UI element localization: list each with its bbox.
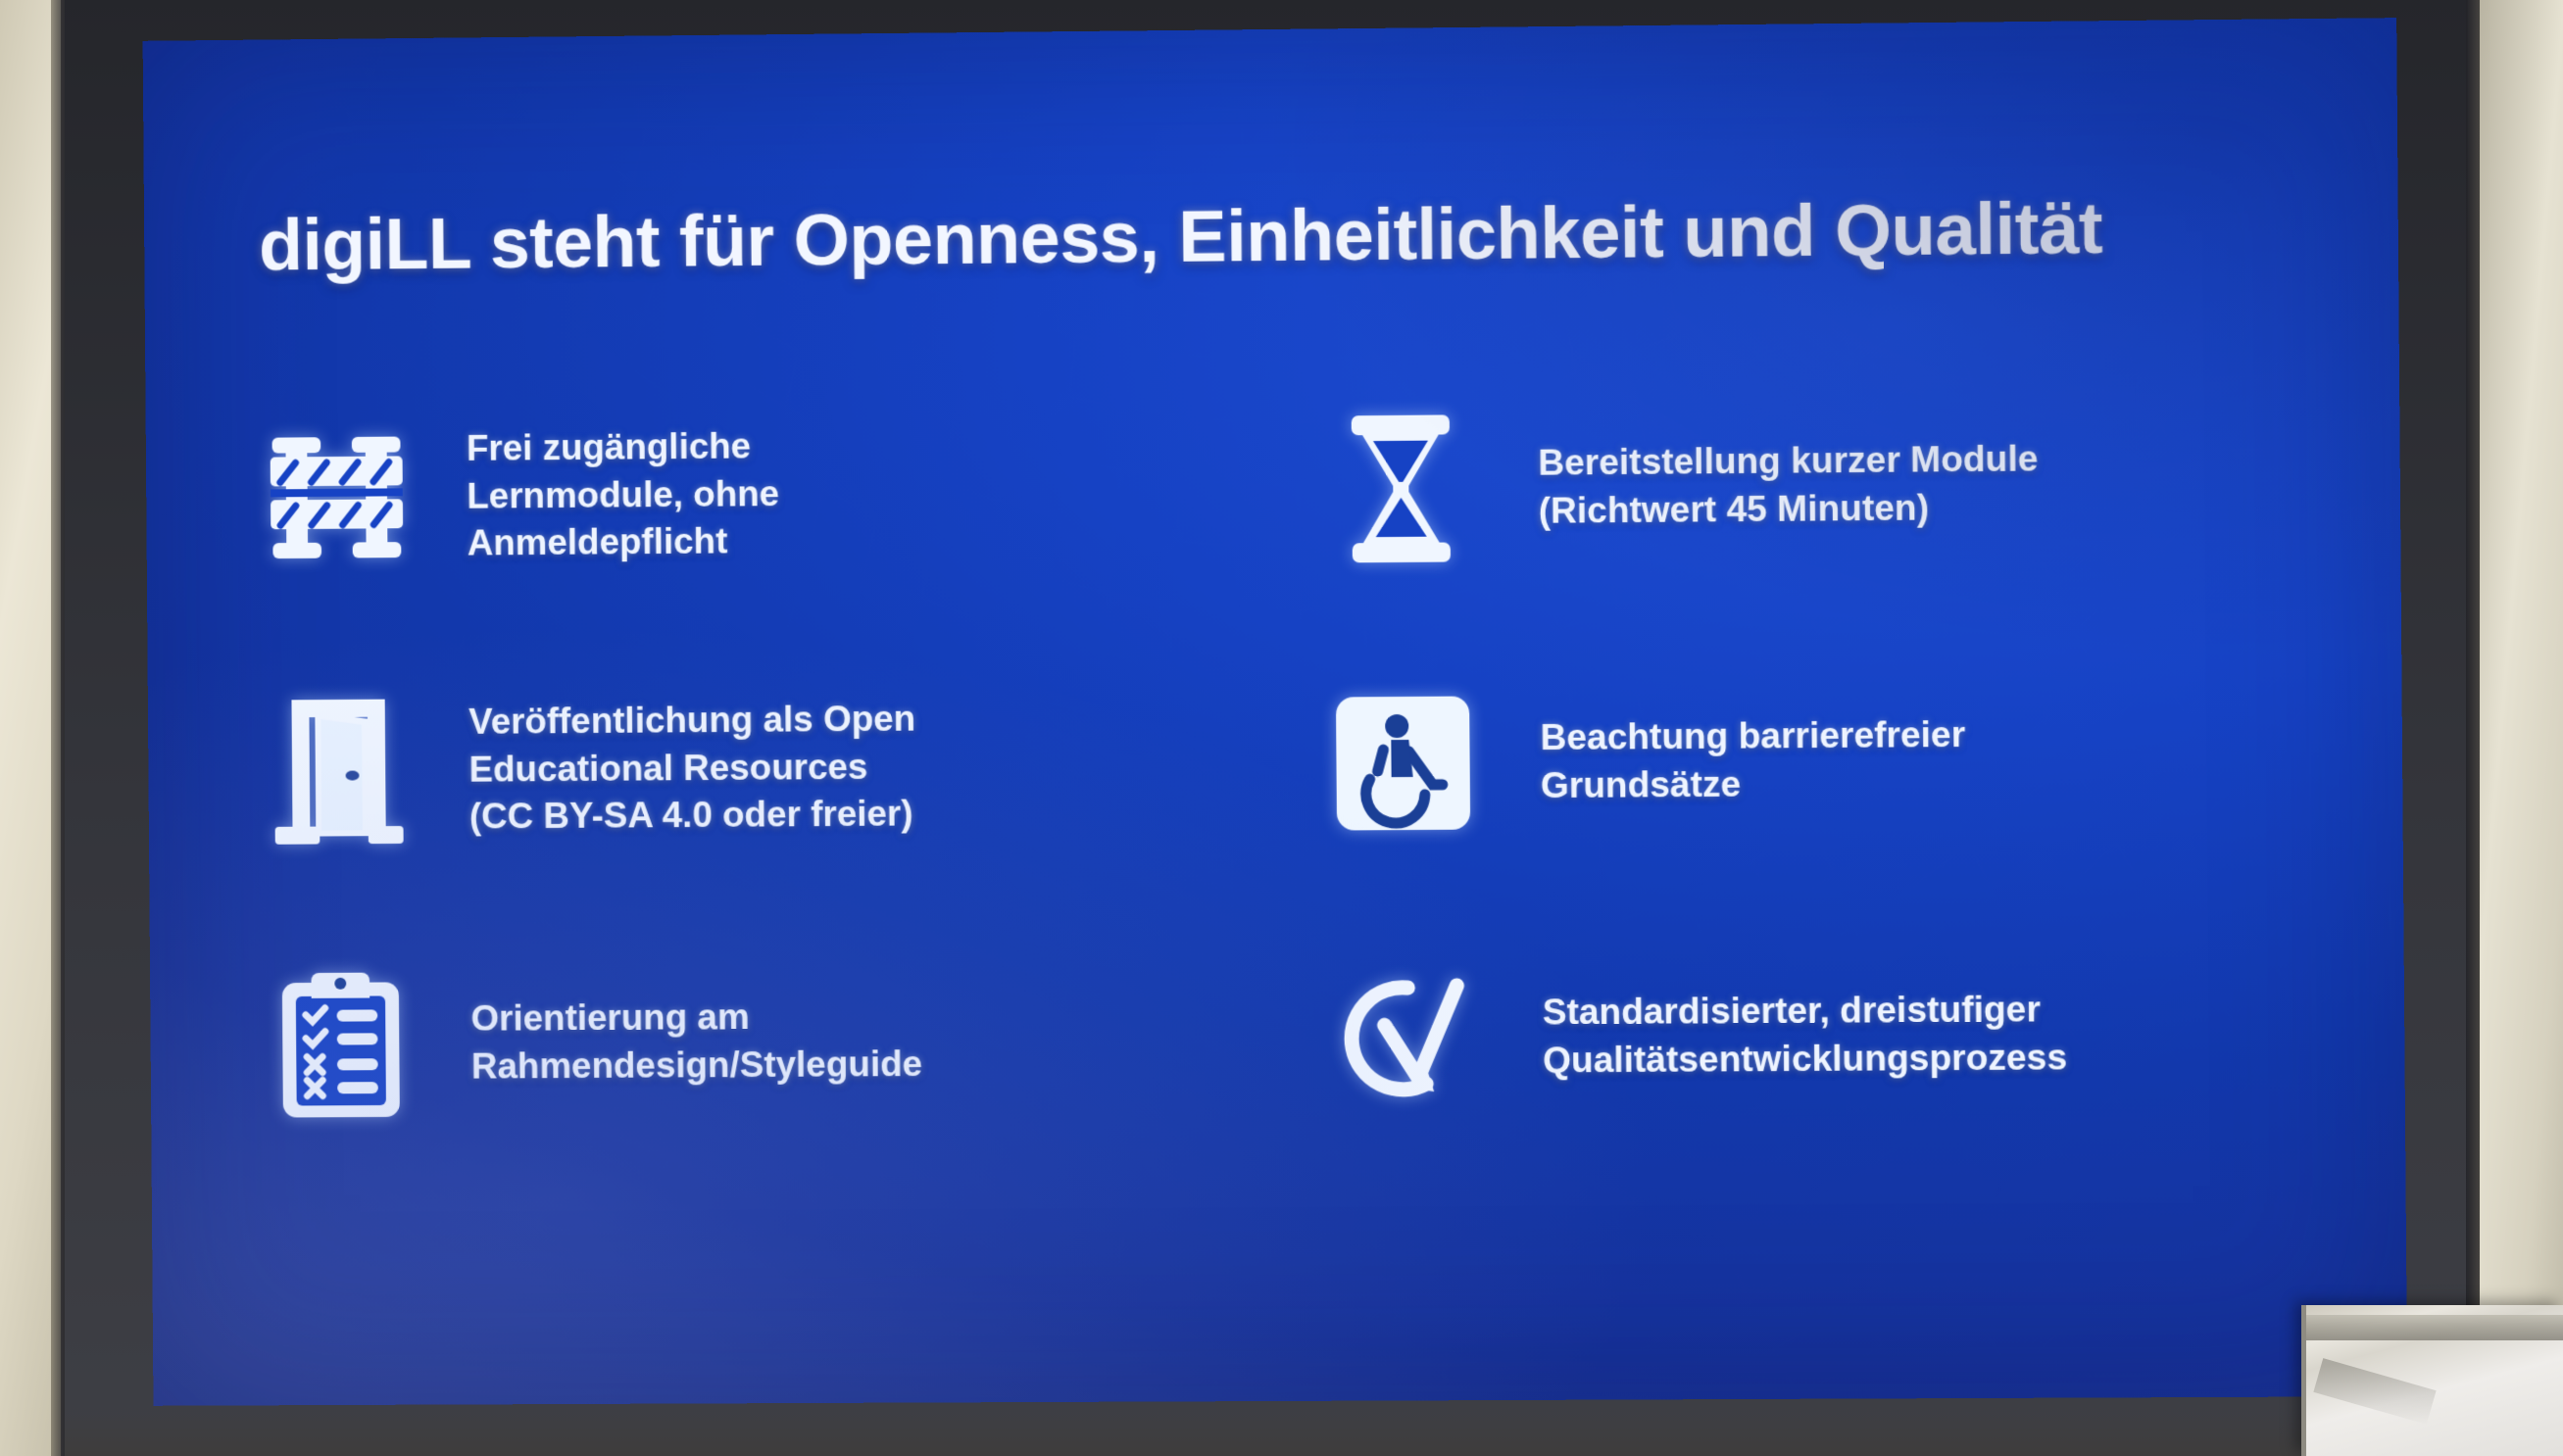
feature-item-label: Veröffentlichung als Open Educational Re… xyxy=(468,695,916,841)
feature-item-label: Standardisierter, dreistufiger Qualitäts… xyxy=(1537,986,2068,1085)
feature-item-label: Bereitstellung kurzer Module (Richtwert … xyxy=(1532,436,2039,536)
presentation-slide: digiLL steht für Openness, Einheitlichke… xyxy=(143,18,2408,1406)
feature-item-veroeffentlichung-oer: Veröffentlichung als Open Educational Re… xyxy=(240,627,1247,908)
feature-item-orientierung-rahmendesign: Orientierung am Rahmendesign/Styleguide xyxy=(243,901,1250,1181)
slide-title: digiLL steht für Openness, Einheitlichke… xyxy=(259,184,2278,286)
feature-grid: Frei zugängliche Lernmodule, ohne Anmeld… xyxy=(238,344,2322,1182)
feature-item-label: Beachtung barrierefreier Grundsätze xyxy=(1534,711,1965,810)
feature-item-frei-zugaengliche-lernmodule: Frei zugängliche Lernmodule, ohne Anmeld… xyxy=(238,353,1245,635)
feature-item-qualitaetsentwicklungsprozess: Standardisierter, dreistufiger Qualitäts… xyxy=(1306,895,2323,1176)
feature-item-bereitstellung-kurzer-module: Bereitstellung kurzer Module (Richtwert … xyxy=(1302,344,2318,627)
whiteboard-flipchart xyxy=(2301,1305,2563,1456)
cycle-checkmark-icon xyxy=(1306,945,1504,1132)
whiteboard-rail xyxy=(2306,1315,2563,1340)
photo-of-projection-screen: digiLL steht für Openness, Einheitlichke… xyxy=(0,0,2563,1456)
open-door-icon xyxy=(241,677,437,864)
feature-item-barrierefreiheit: Beachtung barrierefreier Grundsätze xyxy=(1304,619,2320,901)
barrier-icon xyxy=(239,404,435,591)
feature-item-label: Orientierung am Rahmendesign/Styleguide xyxy=(470,993,922,1091)
hourglass-icon xyxy=(1303,395,1501,583)
wheelchair-accessibility-icon xyxy=(1305,669,1503,857)
wall-right xyxy=(2480,0,2563,1456)
whiteboard-crease xyxy=(2313,1358,2436,1425)
clipboard-checklist-icon xyxy=(243,950,439,1137)
screen-base-shadow xyxy=(65,1411,2468,1456)
wall-right-shadow xyxy=(2466,0,2480,1456)
feature-item-label: Frei zugängliche Lernmodule, ohne Anmeld… xyxy=(467,422,780,568)
